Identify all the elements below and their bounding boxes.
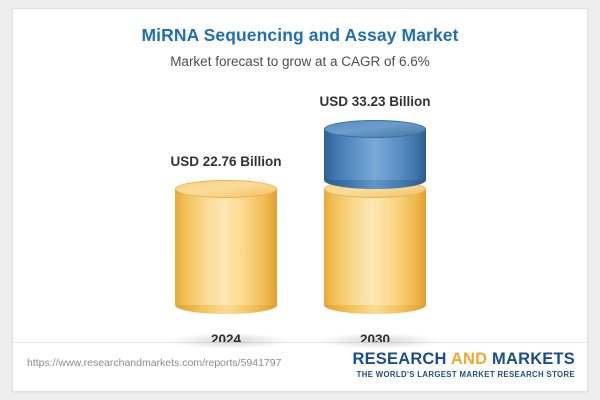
bar-value-label-2030: USD 33.23 Billion xyxy=(282,94,468,109)
bar-shadow-2024 xyxy=(171,333,289,349)
logo-word-research: RESEARCH xyxy=(352,350,446,368)
logo-word-and: AND xyxy=(451,350,487,368)
research-and-markets-logo[interactable]: RESEARCH AND MARKETS THE WORLD'S LARGEST… xyxy=(352,350,575,380)
cylinder-top-cap xyxy=(324,120,426,138)
cylinder-body xyxy=(175,189,277,305)
footer: https://www.researchandmarkets.com/repor… xyxy=(13,342,588,391)
logo-tagline: THE WORLD'S LARGEST MARKET RESEARCH STOR… xyxy=(352,369,575,380)
cylinder-body xyxy=(324,189,426,305)
bar-cylinder-2030-base[interactable] xyxy=(324,180,426,314)
bar-group-2030: USD 33.23 Billion 2030 xyxy=(324,120,426,345)
bar-cylinder-2030-growth[interactable] xyxy=(324,120,426,189)
logo-word-markets: MARKETS xyxy=(492,350,575,368)
bar-cylinder-2024[interactable] xyxy=(175,180,277,314)
plot-area: USD 22.76 Billion 2024 USD 33.23 Billion xyxy=(13,9,588,345)
cylinder-top-cap xyxy=(175,180,277,198)
chart-card: MiRNA Sequencing and Assay Market Market… xyxy=(12,8,588,392)
logo-wordmark: RESEARCH AND MARKETS xyxy=(352,350,575,369)
bar-group-2024: USD 22.76 Billion 2024 xyxy=(175,180,277,345)
report-url-link[interactable]: https://www.researchandmarkets.com/repor… xyxy=(27,357,281,369)
bar-value-label-2024: USD 22.76 Billion xyxy=(133,154,319,169)
bar-shadow-2030 xyxy=(320,333,438,349)
